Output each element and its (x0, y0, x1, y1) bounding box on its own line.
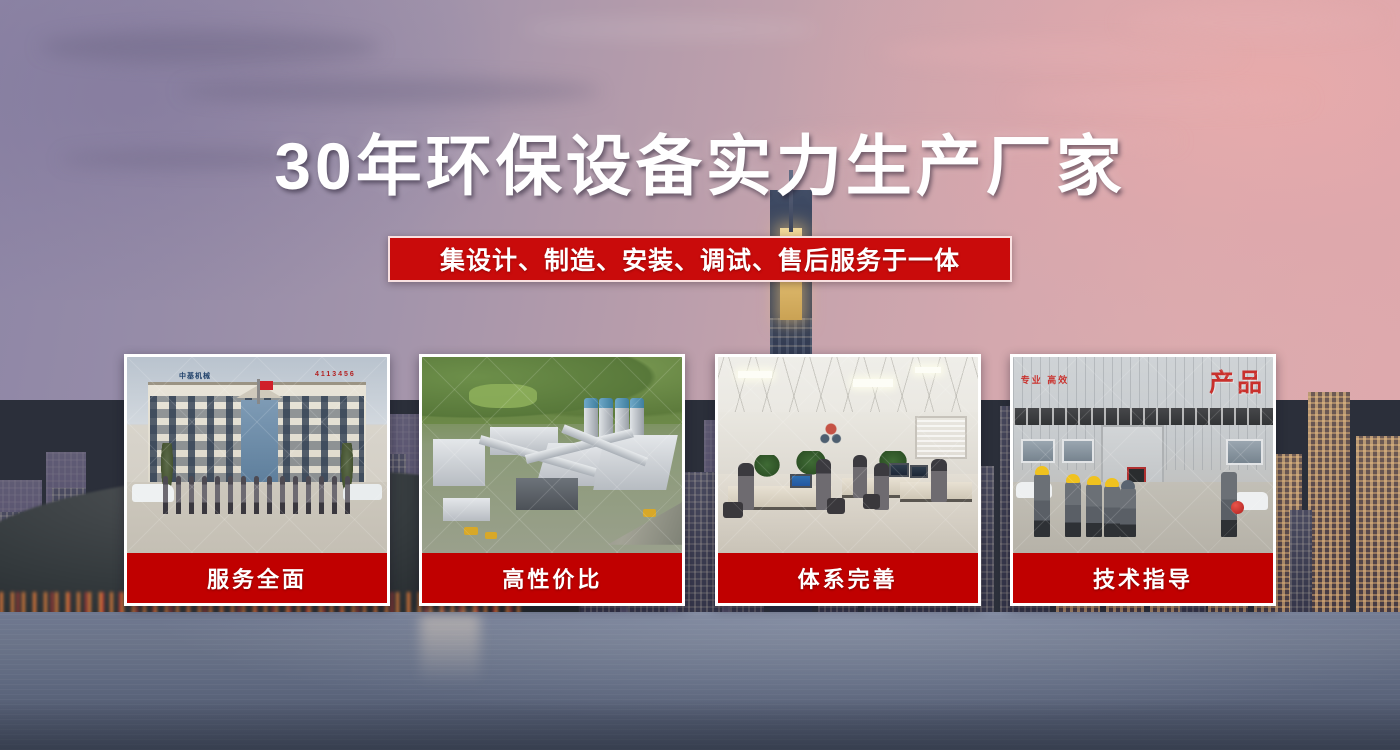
card-caption: 技术指导 (1013, 553, 1273, 603)
page-title: 30年环保设备实力生产厂家 (0, 132, 1400, 201)
feature-card-system[interactable]: 体系完善 (715, 354, 981, 606)
worker (1120, 488, 1136, 537)
feature-card-row: 中基机械 4113456 服务全面 (124, 354, 1276, 606)
card-caption: 高性价比 (422, 553, 682, 603)
feature-card-service[interactable]: 中基机械 4113456 服务全面 (124, 354, 390, 606)
wall-decal (814, 420, 848, 450)
cloud (180, 78, 600, 104)
card-caption-label: 服务全面 (207, 562, 307, 594)
feature-card-value[interactable]: 高性价比 (419, 354, 685, 606)
worker (1034, 474, 1050, 537)
building-signage: 中基机械 (179, 371, 211, 381)
building-phone-number: 4113456 (315, 371, 356, 378)
factory-wall-slogan: 产品 (1209, 363, 1265, 399)
office-team-photo (718, 357, 978, 553)
worker (1086, 484, 1102, 537)
office-window (915, 416, 967, 459)
company-headquarters-photo: 中基机械 4113456 (127, 357, 387, 553)
subtitle-banner: 集设计、制造、安装、调试、售后服务于一体 (388, 236, 1012, 282)
card-caption: 服务全面 (127, 553, 387, 603)
subtitle-text: 集设计、制造、安装、调试、售后服务于一体 (440, 241, 960, 277)
worker (1065, 482, 1081, 537)
cloud (1120, 8, 1380, 38)
card-caption-label: 体系完善 (798, 562, 898, 594)
card-caption-label: 技术指导 (1093, 562, 1193, 594)
staff-lineup (163, 476, 350, 513)
feature-card-training[interactable]: 产品 专业 高效 技术指导 (1010, 354, 1276, 606)
factory-wall-slogan-side: 专业 高效 (1021, 375, 1070, 387)
cloud (880, 40, 1240, 66)
water-reflection (420, 614, 480, 684)
production-plant-aerial-photo (422, 357, 682, 553)
cloud (520, 18, 820, 40)
cloud (40, 30, 380, 64)
card-caption: 体系完善 (718, 553, 978, 603)
worker (1104, 486, 1120, 537)
hero-banner: 30年环保设备实力生产厂家 集设计、制造、安装、调试、售后服务于一体 中基机械 … (0, 0, 1400, 750)
safety-helmet-held (1231, 501, 1244, 514)
cloud (1010, 90, 1310, 110)
card-caption-label: 高性价比 (502, 562, 602, 594)
onsite-technical-training-photo: 产品 专业 高效 (1013, 357, 1273, 553)
